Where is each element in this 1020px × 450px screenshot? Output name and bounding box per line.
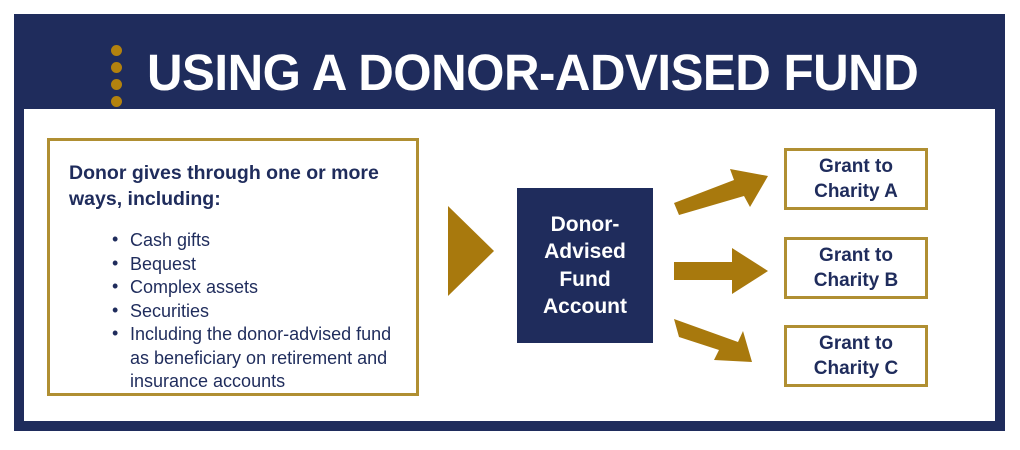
circle-dot-icon — [111, 62, 122, 73]
header-band: USING A DONOR-ADVISED FUND — [14, 14, 1005, 109]
grant-label: Grant toCharity C — [814, 331, 898, 381]
triangle-right-icon — [448, 206, 494, 296]
donor-giving-panel: Donor gives through one or more ways, in… — [47, 138, 419, 396]
list-item: Complex assets — [112, 276, 400, 300]
grant-box-charity-c: Grant toCharity C — [784, 325, 928, 387]
circle-dot-icon — [111, 96, 122, 107]
dot-stack-decoration — [106, 45, 126, 107]
donor-advised-fund-infographic: USING A DONOR-ADVISED FUND Donor gives t… — [0, 0, 1020, 450]
circle-dot-icon — [111, 45, 122, 56]
donor-panel-heading: Donor gives through one or more ways, in… — [69, 160, 389, 212]
list-item: Including the donor-advised fund as bene… — [112, 323, 400, 394]
list-item: Cash gifts — [112, 229, 400, 253]
grant-box-charity-b: Grant toCharity B — [784, 237, 928, 299]
arrow-right-icon — [672, 245, 770, 297]
grant-label: Grant toCharity B — [814, 243, 898, 293]
grant-label: Grant toCharity A — [814, 154, 898, 204]
center-node-label: Donor-AdvisedFundAccount — [543, 211, 627, 321]
list-item: Securities — [112, 300, 400, 324]
circle-dot-icon — [111, 79, 122, 90]
page-title: USING A DONOR-ADVISED FUND — [147, 41, 918, 105]
arrow-down-right-icon — [672, 314, 770, 366]
donor-advised-fund-account-node: Donor-AdvisedFundAccount — [517, 188, 653, 343]
grant-box-charity-a: Grant toCharity A — [784, 148, 928, 210]
arrow-up-right-icon — [672, 163, 770, 215]
list-item: Bequest — [112, 253, 400, 277]
donor-giving-methods-list: Cash gifts Bequest Complex assets Securi… — [69, 229, 400, 394]
